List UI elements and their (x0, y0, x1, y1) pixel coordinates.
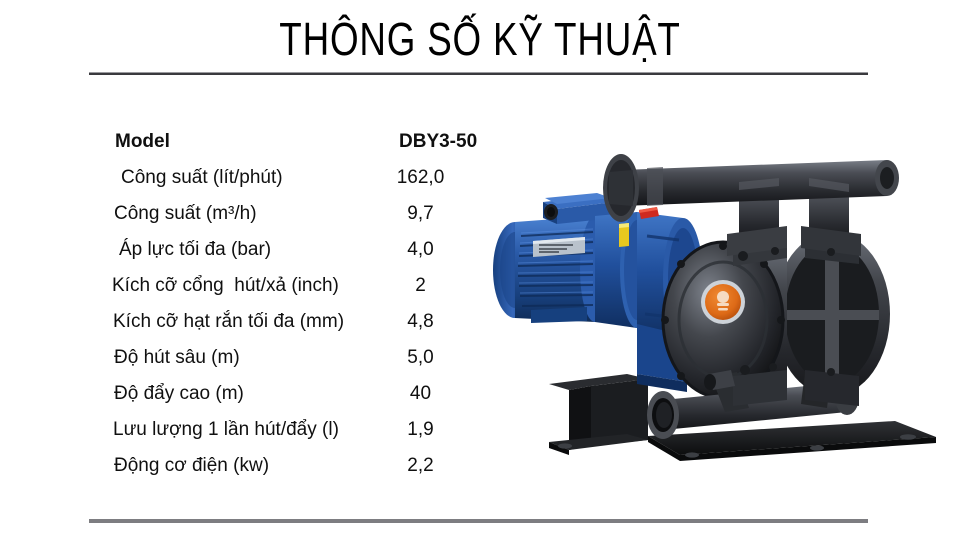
spec-value: 40 (358, 379, 483, 409)
spec-value: 4,8 (358, 307, 483, 337)
spec-label: Độ hút sâu (m) (114, 343, 240, 373)
table-row: Áp lực tối đa (bar) 4,0 (0, 235, 500, 265)
product-photo-diaphragm-pump (487, 124, 957, 474)
spec-value: 5,0 (358, 343, 483, 373)
spec-value: 1,9 (358, 415, 483, 445)
table-row: Độ đẩy cao (m) 40 (0, 379, 500, 409)
table-row: Kích cỡ cổng hút/xả (inch) 2 (0, 271, 500, 301)
yellow-tag (619, 223, 629, 247)
spec-label-model: Model (115, 127, 170, 157)
spec-label: Áp lực tối đa (bar) (119, 235, 271, 265)
spec-label: Lưu lượng 1 lần hút/đẩy (l) (113, 415, 339, 445)
spec-value: 9,7 (358, 199, 483, 229)
spec-value: 2 (358, 271, 483, 301)
spec-value: 2,2 (358, 451, 483, 481)
table-row: Lưu lượng 1 lần hút/đẩy (l) 1,9 (0, 415, 500, 445)
table-row: Công suất (m³/h) 9,7 (0, 199, 500, 229)
table-header-row: Model DBY3-50 (0, 127, 500, 157)
spec-label: Độ đẩy cao (m) (114, 379, 244, 409)
table-row: Kích cỡ hạt rắn tối đa (mm) 4,8 (0, 307, 500, 337)
table-row: Độ hút sâu (m) 5,0 (0, 343, 500, 373)
spec-label: Kích cỡ cổng hút/xả (inch) (112, 271, 339, 301)
spec-value: 4,0 (358, 235, 483, 265)
spec-label: Công suất (lít/phút) (121, 163, 283, 193)
spec-table: Model DBY3-50 Công suất (lít/phút) 162,0… (0, 0, 500, 560)
table-row: Công suất (lít/phút) 162,0 (0, 163, 500, 193)
spec-label: Kích cỡ hạt rắn tối đa (mm) (113, 307, 344, 337)
spec-label: Công suất (m³/h) (114, 199, 257, 229)
spec-value: 162,0 (358, 163, 483, 193)
table-row: Động cơ điện (kw) 2,2 (0, 451, 500, 481)
brand-badge (701, 280, 745, 324)
spec-label: Động cơ điện (kw) (114, 451, 269, 481)
